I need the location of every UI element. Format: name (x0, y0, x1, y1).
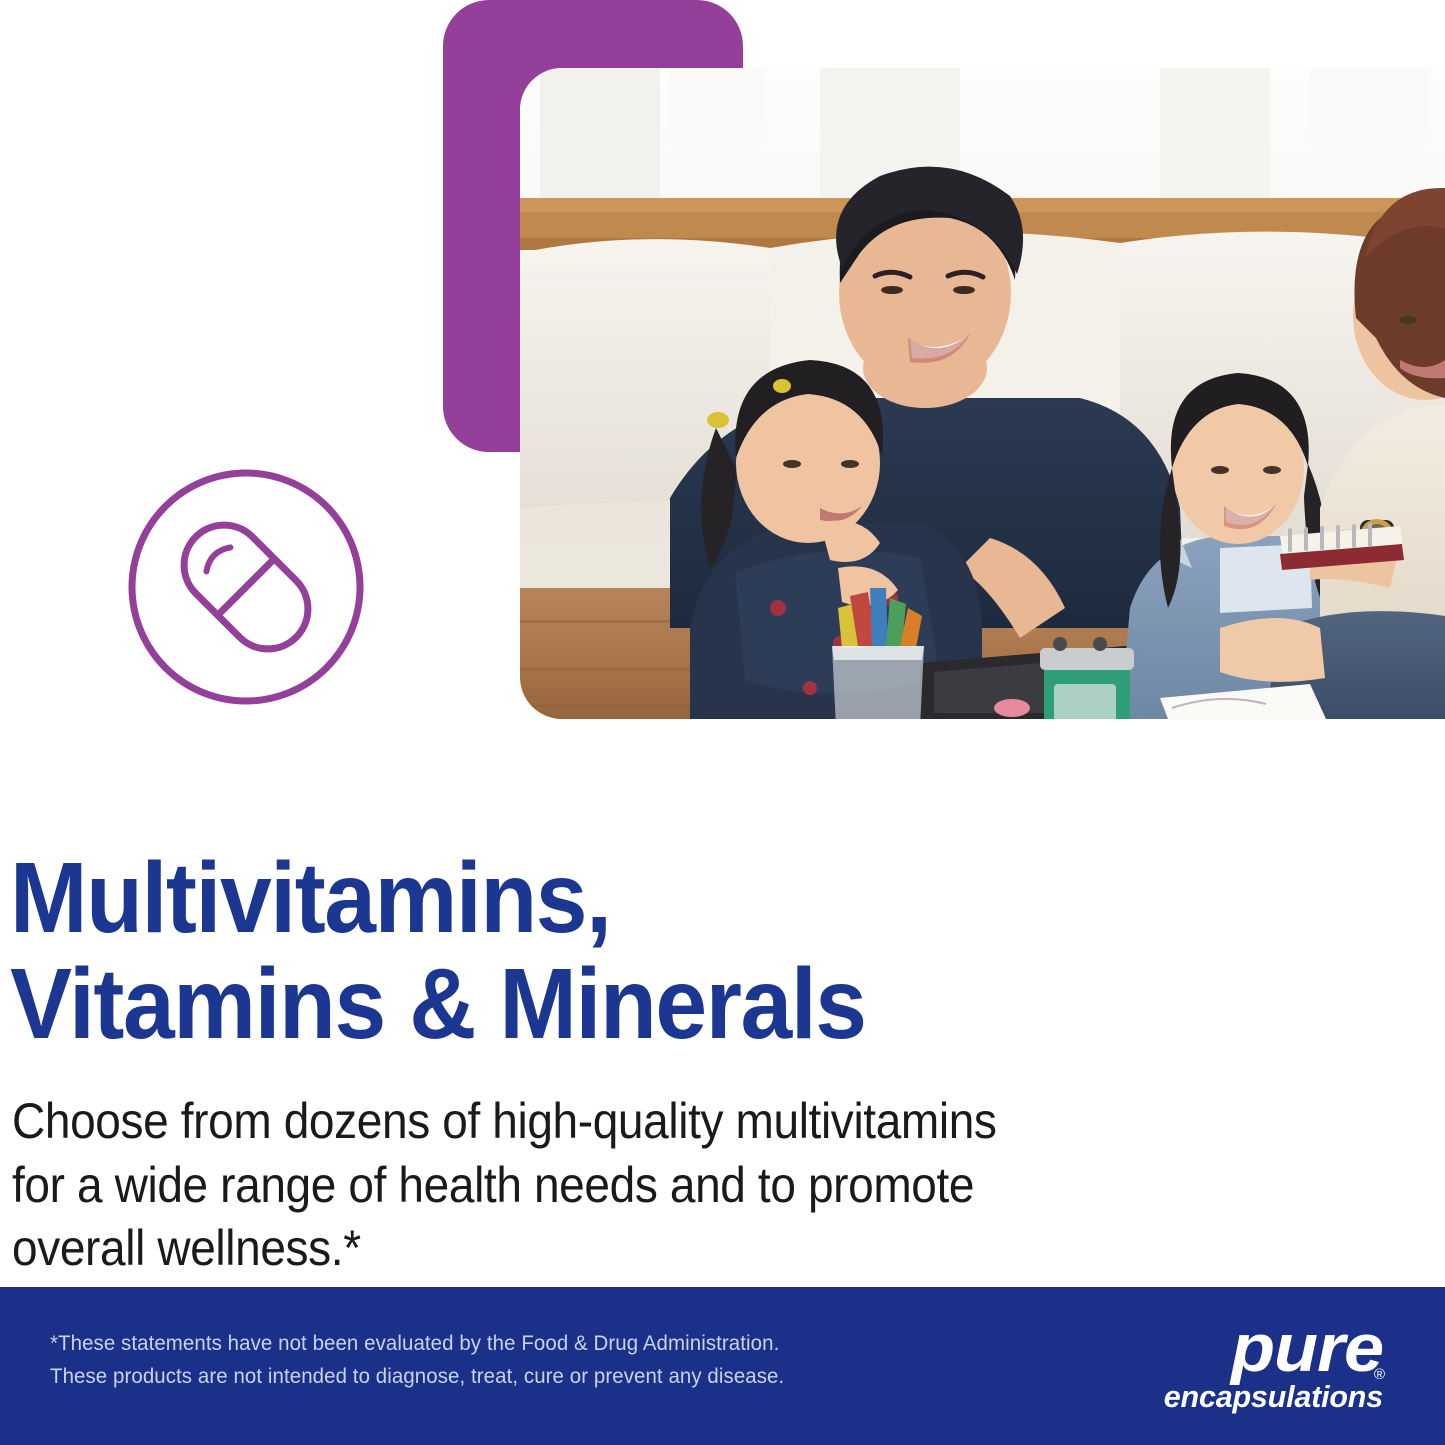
fda-disclaimer: *These statements have not been evaluate… (50, 1327, 784, 1392)
page-title: Multivitamins, Vitamins & Minerals (10, 845, 1126, 1057)
capsule-icon-svg (123, 464, 369, 710)
body-copy: Choose from dozens of high-quality multi… (12, 1090, 1208, 1281)
hero-photo (520, 68, 1445, 719)
brand-logo: pure encapsulations ® (1123, 1317, 1383, 1417)
brand-name-secondary: encapsulations (1164, 1382, 1383, 1413)
capsule-icon (123, 464, 369, 710)
brand-name-primary: pure (1107, 1317, 1383, 1380)
family-photo-illustration (520, 68, 1445, 719)
registered-trademark-icon: ® (1374, 1366, 1385, 1383)
footer-bar: *These statements have not been evaluate… (0, 1287, 1445, 1445)
promotional-banner: Multivitamins, Vitamins & Minerals Choos… (0, 0, 1445, 1445)
brand-name-secondary-row: encapsulations ® (1123, 1382, 1383, 1413)
